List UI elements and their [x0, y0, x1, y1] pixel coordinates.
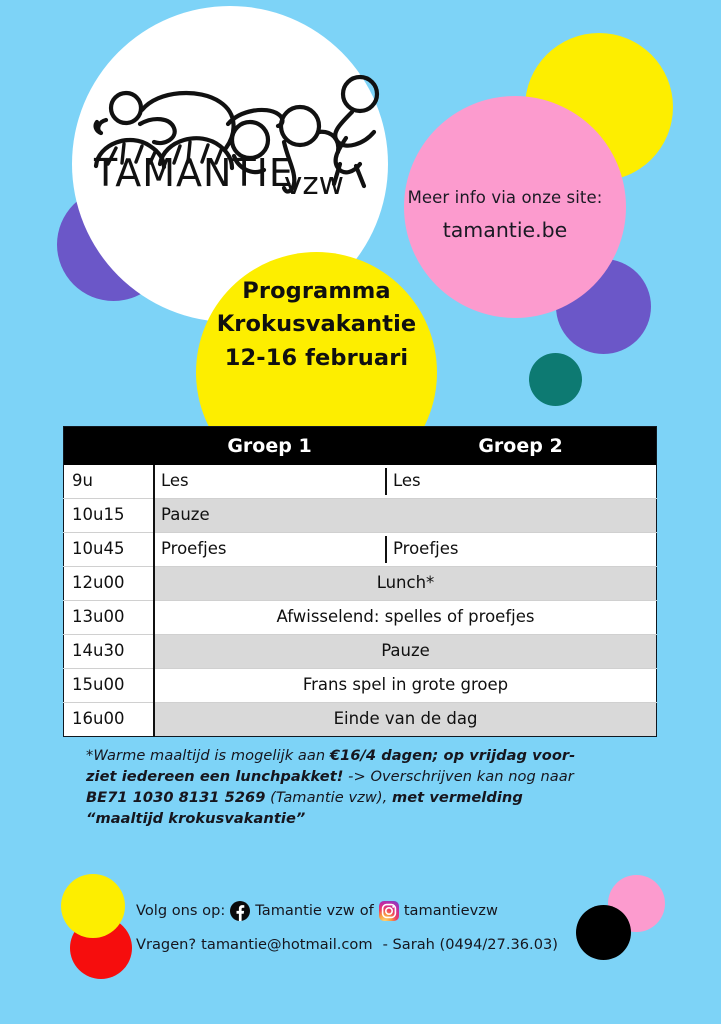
logo-arm-curl-1 — [140, 119, 175, 143]
decor-circle-teal — [529, 353, 582, 406]
footnote-line-4: “maaltijd krokusvakantie” — [86, 808, 642, 829]
logo-head-runner — [343, 77, 377, 111]
site-info: Meer info via onze site: tamantie.be — [390, 188, 620, 242]
questions-label: Vragen? — [136, 937, 196, 953]
header-groep-2: Groep 2 — [385, 427, 657, 466]
row-time: 15u00 — [64, 669, 155, 703]
footnote-line-2: ziet iedereen een lunchpakket! -> Oversc… — [86, 766, 642, 787]
table-row: 10u45ProefjesProefjes — [64, 533, 657, 567]
logo-arm-left — [96, 120, 106, 133]
logo-head-right-mid — [281, 107, 319, 145]
schedule-header-row: Groep 1 Groep 2 — [64, 427, 657, 466]
schedule-body: 9uLesLes10u15Pauze10u45ProefjesProefjes1… — [64, 465, 657, 737]
logo-head-left — [111, 93, 141, 123]
social-separator: of — [360, 903, 374, 919]
row-time: 14u30 — [64, 635, 155, 669]
footnote-line-1: *Warme maaltijd is mogelijk aan €16/4 da… — [86, 745, 642, 766]
footnote-2a: ziet iedereen een lunchpakket! — [86, 768, 343, 785]
follow-label: Volg ons op: — [136, 903, 225, 919]
row-activity-groep-2: Proefjes — [385, 533, 657, 567]
schedule-head: Groep 1 Groep 2 — [64, 427, 657, 466]
row-activity-all-groups: Frans spel in grote groep — [154, 669, 657, 703]
program-title-line-1: Programma — [196, 275, 437, 308]
row-time: 10u45 — [64, 533, 155, 567]
table-row: 14u30Pauze — [64, 635, 657, 669]
table-row: 13u00Afwisselend: spelles of proefjes — [64, 601, 657, 635]
footnote-3c: met vermelding — [392, 789, 523, 806]
table-row: 15u00Frans spel in grote groep — [64, 669, 657, 703]
footnote-iban: BE71 1030 8131 5269 — [86, 789, 265, 806]
site-info-label: Meer info via onze site: — [390, 188, 620, 209]
row-activity-all-groups: Afwisselend: spelles of proefjes — [154, 601, 657, 635]
social-row: Volg ons op: Tamantie vzw of — [136, 899, 558, 923]
instagram-icon[interactable] — [379, 901, 399, 921]
row-time: 16u00 — [64, 703, 155, 737]
row-activity-all-groups: Lunch* — [154, 567, 657, 601]
row-activity-all-groups: Einde van de dag — [154, 703, 657, 737]
contact-person: - Sarah (0494/27.36.03) — [383, 937, 558, 953]
row-activity-all-groups: Pauze — [154, 635, 657, 669]
row-activity-groep-1: Les — [154, 465, 385, 499]
row-time: 12u00 — [64, 567, 155, 601]
row-time: 13u00 — [64, 601, 155, 635]
footnote-1b: €16/4 dagen; op vrijdag voor- — [330, 747, 575, 764]
header-time — [64, 427, 155, 466]
instagram-handle[interactable]: tamantievzw — [404, 903, 498, 919]
svg-text:TAMANTIE: TAMANTIE — [93, 151, 294, 195]
row-time: 9u — [64, 465, 155, 499]
decor-circle-yellow-bottom-left — [61, 874, 125, 938]
facebook-handle[interactable]: Tamantie vzw — [255, 903, 354, 919]
contact-block: Volg ons op: Tamantie vzw of — [136, 899, 558, 957]
footnote-line-3: BE71 1030 8131 5269 (Tamantie vzw), met … — [86, 787, 642, 808]
row-activity-groep-2 — [385, 499, 657, 533]
contact-email[interactable]: tamantie@hotmail.com — [201, 937, 372, 953]
tamantie-logo: TAMANTIE vzw — [88, 68, 388, 198]
row-activity-groep-1: Proefjes — [154, 533, 385, 567]
svg-text:vzw: vzw — [284, 166, 344, 198]
poster-canvas: TAMANTIE vzw Meer info via onze site: ta… — [0, 0, 721, 1024]
questions-row: Vragen? tamantie@hotmail.com - Sarah (04… — [136, 933, 558, 957]
header-groep-1: Groep 1 — [154, 427, 385, 466]
table-row: 10u15Pauze — [64, 499, 657, 533]
schedule-table: Groep 1 Groep 2 9uLesLes10u15Pauze10u45P… — [63, 426, 657, 737]
table-row: 12u00Lunch* — [64, 567, 657, 601]
program-title-line-2: Krokusvakantie — [196, 308, 437, 341]
site-url[interactable]: tamantie.be — [390, 218, 620, 243]
decor-circle-black-bottom-right — [576, 905, 631, 960]
logo-runner-arms — [335, 112, 374, 146]
row-activity-groep-1: Pauze — [154, 499, 385, 533]
footnote-2b: -> Overschrijven kan nog naar — [343, 768, 573, 785]
meal-footnote: *Warme maaltijd is mogelijk aan €16/4 da… — [86, 745, 642, 829]
row-activity-groep-2: Les — [385, 465, 657, 499]
table-row: 9uLesLes — [64, 465, 657, 499]
program-title-line-3: 12-16 februari — [196, 342, 437, 375]
footnote-3b: (Tamantie vzw), — [265, 789, 392, 806]
facebook-icon[interactable] — [230, 901, 250, 921]
program-title: Programma Krokusvakantie 12-16 februari — [196, 275, 437, 375]
row-time: 10u15 — [64, 499, 155, 533]
footnote-1a: *Warme maaltijd is mogelijk aan — [86, 747, 330, 764]
table-row: 16u00Einde van de dag — [64, 703, 657, 737]
